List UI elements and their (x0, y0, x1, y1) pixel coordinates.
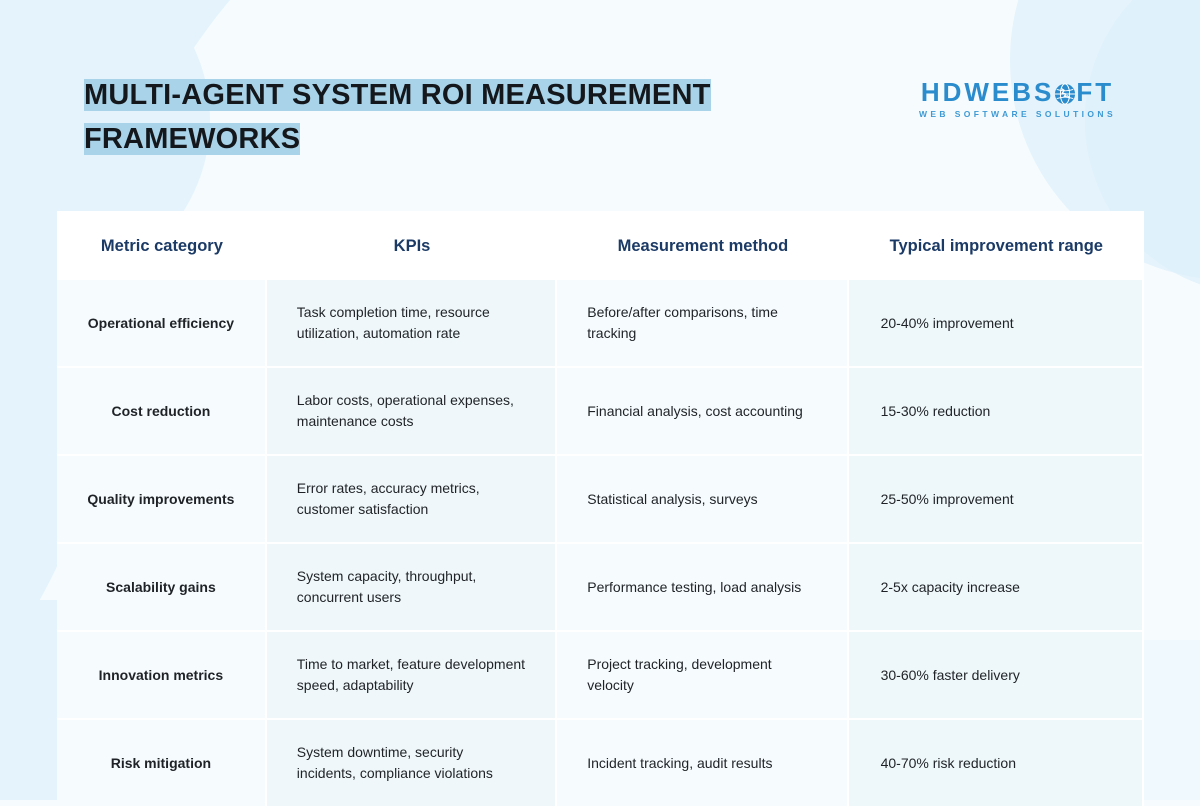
cell-typical-improvement-range: 15-30% reduction (849, 368, 1144, 456)
cell-typical-improvement-range: 2-5x capacity increase (849, 544, 1144, 632)
column-header-metric-category: Metric category (57, 211, 267, 280)
cell-measurement-method: Performance testing, load analysis (557, 544, 848, 632)
cell-measurement-method: Financial analysis, cost accounting (557, 368, 848, 456)
cell-metric-category: Operational efficiency (57, 280, 267, 368)
page-title: MULTI-AGENT SYSTEM ROI MEASUREMENT FRAME… (80, 76, 840, 164)
cell-metric-category: Cost reduction (57, 368, 267, 456)
table-header-row: Metric category KPIs Measurement method … (57, 211, 1144, 280)
cell-metric-category: Innovation metrics (57, 632, 267, 720)
table-row: Cost reductionLabor costs, operational e… (57, 368, 1144, 456)
hdwebsoft-logo: HDWEBS FT WEB SOFTWARE SOLUTIONS (915, 78, 1120, 128)
cell-metric-category: Risk mitigation (57, 720, 267, 806)
page-title-line-2: FRAMEWORKS (80, 120, 304, 158)
cell-measurement-method: Before/after comparisons, time tracking (557, 280, 848, 368)
table-row: Operational efficiencyTask completion ti… (57, 280, 1144, 368)
cell-kpis: Labor costs, operational expenses, maint… (267, 368, 557, 456)
cell-typical-improvement-range: 25-50% improvement (849, 456, 1144, 544)
logo-wordmark: HDWEBS FT (915, 78, 1120, 106)
table-header: Metric category KPIs Measurement method … (57, 211, 1144, 280)
logo-wordmark-part1: HDWEBS (921, 78, 1055, 106)
cell-metric-category: Quality improvements (57, 456, 267, 544)
cell-kpis: Task completion time, resource utilizati… (267, 280, 557, 368)
column-header-kpis: KPIs (267, 211, 557, 280)
cell-typical-improvement-range: 30-60% faster delivery (849, 632, 1144, 720)
cell-metric-category: Scalability gains (57, 544, 267, 632)
globe-icon (1054, 82, 1076, 104)
cell-measurement-method: Project tracking, development velocity (557, 632, 848, 720)
table-row: Scalability gainsSystem capacity, throug… (57, 544, 1144, 632)
logo-wordmark-part2: FT (1076, 78, 1114, 106)
cell-kpis: Error rates, accuracy metrics, customer … (267, 456, 557, 544)
cell-typical-improvement-range: 20-40% improvement (849, 280, 1144, 368)
page-title-line-1: MULTI-AGENT SYSTEM ROI MEASUREMENT (80, 76, 715, 114)
cell-measurement-method: Incident tracking, audit results (557, 720, 848, 806)
cell-measurement-method: Statistical analysis, surveys (557, 456, 848, 544)
cell-kpis: Time to market, feature development spee… (267, 632, 557, 720)
cell-typical-improvement-range: 40-70% risk reduction (849, 720, 1144, 806)
roi-metrics-table: Metric category KPIs Measurement method … (57, 211, 1144, 806)
cell-kpis: System downtime, security incidents, com… (267, 720, 557, 806)
table-row: Risk mitigationSystem downtime, security… (57, 720, 1144, 806)
column-header-typical-improvement-range: Typical improvement range (849, 211, 1144, 280)
table-body: Operational efficiencyTask completion ti… (57, 280, 1144, 806)
page-header: MULTI-AGENT SYSTEM ROI MEASUREMENT FRAME… (0, 0, 1200, 200)
column-header-measurement-method: Measurement method (557, 211, 848, 280)
table-row: Quality improvementsError rates, accurac… (57, 456, 1144, 544)
logo-tagline: WEB SOFTWARE SOLUTIONS (915, 109, 1120, 119)
cell-kpis: System capacity, throughput, concurrent … (267, 544, 557, 632)
table-row: Innovation metricsTime to market, featur… (57, 632, 1144, 720)
